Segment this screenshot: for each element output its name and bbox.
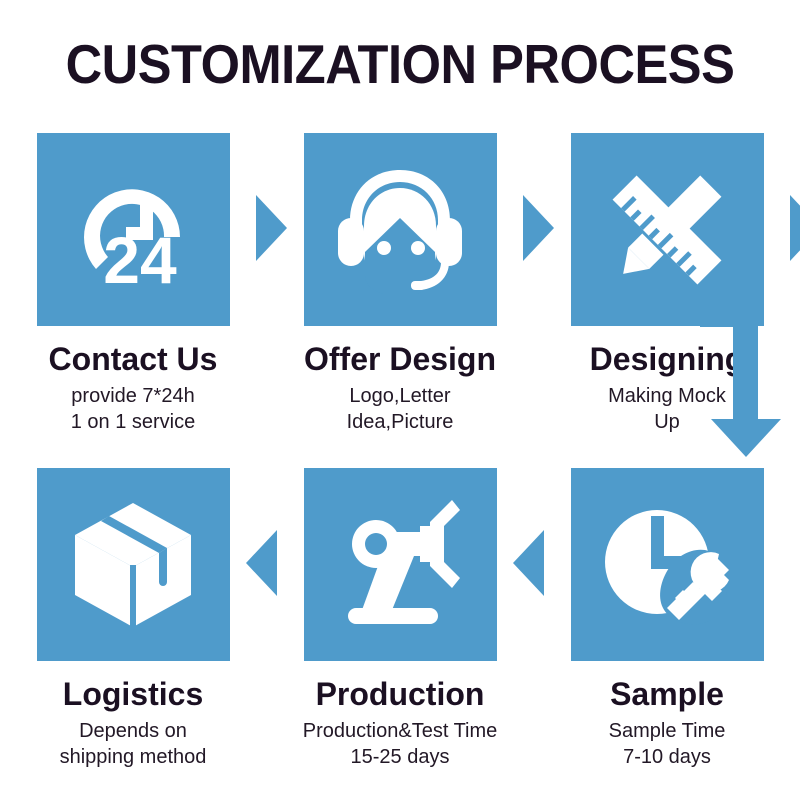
- package-box-icon: [37, 468, 230, 661]
- step-card-sample[interactable]: Sample Sample Time 7-10 days: [544, 468, 790, 770]
- step-icon-tile: 24: [37, 133, 230, 326]
- step-desc-line-2: Idea,Picture: [277, 409, 523, 435]
- chevron-left-icon: [246, 530, 277, 596]
- step-icon-tile: [304, 468, 497, 661]
- chevron-left-icon: [513, 530, 544, 596]
- step-title: Logistics: [10, 675, 256, 713]
- step-title: Contact Us: [10, 340, 256, 378]
- step-card-offer-design[interactable]: Offer Design Logo,Letter Idea,Picture: [277, 133, 523, 435]
- step-icon-tile: [304, 133, 497, 326]
- step-icon-tile: [571, 468, 764, 661]
- step-title: Offer Design: [277, 340, 523, 378]
- step-desc-line-1: provide 7*24h: [10, 383, 256, 409]
- step-card-logistics[interactable]: Logistics Depends on shipping method: [10, 468, 256, 770]
- chevron-right-icon: [790, 195, 800, 261]
- step-desc-line-1: Logo,Letter: [277, 383, 523, 409]
- step-desc-line-2: 1 on 1 service: [10, 409, 256, 435]
- step-icon-tile: [37, 468, 230, 661]
- arrow-down-icon: [711, 419, 781, 457]
- step-title: Sample: [544, 675, 790, 713]
- headset-support-agent-icon: [304, 133, 497, 326]
- svg-text:24: 24: [103, 223, 177, 295]
- robot-arm-icon: [304, 468, 497, 661]
- infographic-canvas: CUSTOMIZATION PROCESS 24 Contact Us prov…: [0, 0, 800, 800]
- step-desc-line-1: Production&Test Time: [277, 718, 523, 744]
- clock-24h-icon: 24: [37, 133, 230, 326]
- step-card-production[interactable]: Production Production&Test Time 15-25 da…: [277, 468, 523, 770]
- step-desc-line-1: Sample Time: [544, 718, 790, 744]
- step-desc-line-2: shipping method: [10, 744, 256, 770]
- connector-vertical-bar: [733, 303, 758, 421]
- clock-wrench-icon: [571, 468, 764, 661]
- page-title: CUSTOMIZATION PROCESS: [32, 34, 768, 94]
- step-card-contact-us[interactable]: 24 Contact Us provide 7*24h 1 on 1 servi…: [10, 133, 256, 435]
- step-desc-line-2: 15-25 days: [277, 744, 523, 770]
- ruler-pencil-icon: [571, 133, 764, 326]
- step-title: Production: [277, 675, 523, 713]
- step-desc-line-2: 7-10 days: [544, 744, 790, 770]
- step-desc-line-1: Depends on: [10, 718, 256, 744]
- step-icon-tile: [571, 133, 764, 326]
